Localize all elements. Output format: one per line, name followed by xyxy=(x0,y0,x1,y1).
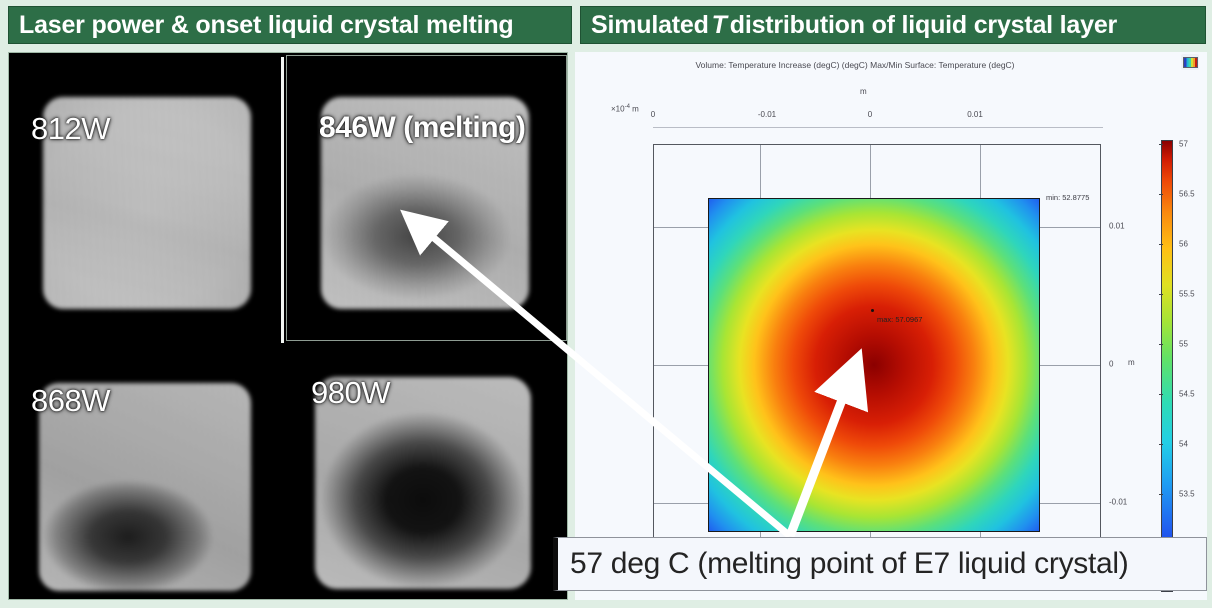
ir-image-panel: 812W 846W (melting) 868W 980W 21 x 21 mm… xyxy=(8,52,568,600)
header-left-title: Laser power & onset liquid crystal melti… xyxy=(8,6,572,44)
colorbar-tick-mark xyxy=(1159,144,1163,145)
plot-area: max: 57.0967 min: 52.8775 xyxy=(653,144,1101,588)
colorbar xyxy=(1161,140,1173,592)
colorbar-tick-label-56: 56 xyxy=(1179,240,1188,249)
plot-title: Volume: Temperature Increase (degC) (deg… xyxy=(575,60,1135,70)
colorbar-tick-label-54: 54 xyxy=(1179,440,1188,449)
header-left-text: Laser power & onset liquid crystal melti… xyxy=(19,11,514,40)
power-label-846w: 846W (melting) xyxy=(319,111,525,145)
caption-text: 57 deg C (melting point of E7 liquid cry… xyxy=(570,547,1128,581)
y-tick-label-2: -0.01 xyxy=(1109,498,1127,507)
power-label-812w: 812W xyxy=(31,111,110,147)
colorbar-tick-label-53.5: 53.5 xyxy=(1179,490,1195,499)
x-axis-unit-label: m xyxy=(860,87,867,96)
max-point-marker xyxy=(871,309,874,312)
header-right-italic-T: T xyxy=(709,11,730,40)
y-tick-label-0: 0.01 xyxy=(1109,222,1125,231)
power-label-868w: 868W xyxy=(31,383,110,419)
frame-divider xyxy=(281,57,284,343)
x-tick-label-1: -0.01 xyxy=(758,110,776,119)
colorbar-tick-label-55.5: 55.5 xyxy=(1179,290,1195,299)
colorbar-tick-label-55: 55 xyxy=(1179,340,1188,349)
colorbar-tick-label-57: 57 xyxy=(1179,140,1188,149)
x-axis-exponent-label: ×10-4 m xyxy=(611,104,639,114)
exponent-base: ×10 xyxy=(611,105,625,114)
colorbar-tick-mark xyxy=(1159,494,1163,495)
max-value-label: max: 57.0967 xyxy=(877,315,922,324)
temperature-field-heatmap: max: 57.0967 xyxy=(708,198,1040,532)
ir-frame-812w xyxy=(9,53,281,343)
x-tick-label-2: 0 xyxy=(868,110,872,119)
y-tick-label-1: 0 xyxy=(1109,360,1113,369)
colorbar-tick-mark xyxy=(1159,394,1163,395)
colormap-swatch xyxy=(1183,57,1198,68)
colorbar-tick-mark xyxy=(1159,344,1163,345)
colorbar-tick-mark xyxy=(1159,244,1163,245)
header-right-text-before: Simulated xyxy=(591,11,709,40)
power-label-980w: 980W xyxy=(311,375,390,411)
colorbar-tick-mark xyxy=(1159,444,1163,445)
ir-frame-846w xyxy=(285,53,568,343)
colorbar-tick-mark xyxy=(1159,294,1163,295)
colorbar-tick-mark xyxy=(1159,194,1163,195)
exponent-power: -4 xyxy=(625,104,630,110)
x-tick-label-0: 0 xyxy=(651,110,655,119)
min-value-label: min: 52.8775 xyxy=(1046,193,1089,202)
colorbar-tick-label-56.5: 56.5 xyxy=(1179,190,1195,199)
y-axis-unit-label: m xyxy=(1128,358,1135,367)
comsol-simulation-panel: Volume: Temperature Increase (degC) (deg… xyxy=(575,52,1207,600)
colorbar-tick-label-54.5: 54.5 xyxy=(1179,390,1195,399)
exponent-unit: m xyxy=(632,105,639,114)
x-tick-label-3: 0.01 xyxy=(967,110,983,119)
x-axis-line xyxy=(653,127,1103,128)
header-right-text-after: distribution of liquid crystal layer xyxy=(730,11,1117,40)
colormap-legend-icon[interactable] xyxy=(1181,54,1199,70)
header-right-title: Simulated T distribution of liquid cryst… xyxy=(580,6,1206,44)
caption-callout: 57 deg C (melting point of E7 liquid cry… xyxy=(553,537,1207,591)
